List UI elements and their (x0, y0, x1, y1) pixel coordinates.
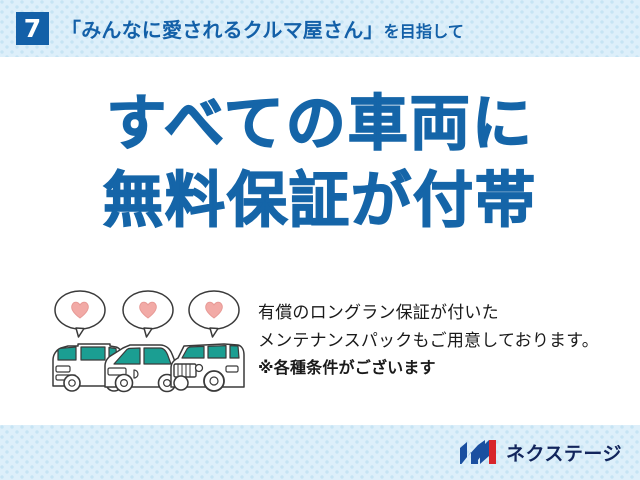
header-title: 「みんなに愛されるクルマ屋さん」 を目指して (61, 14, 464, 43)
heart-bubble-3 (189, 291, 239, 337)
step-number-badge: 7 (16, 12, 49, 45)
header-title-suffix: を目指して (384, 18, 465, 42)
nexstage-n-logo-icon (458, 440, 498, 466)
promo-row: 有償のロングラン保証が付いた メンテナンスパックもご用意しております。 ※各種条… (0, 288, 640, 398)
page-title: すべての車両に 無料保証が付帯 (0, 92, 640, 234)
heart-bubble-1 (55, 291, 105, 337)
headline-line-1: すべての車両に (0, 92, 640, 157)
description-line-1: 有償のロングラン保証が付いた (258, 300, 599, 328)
description-line-2: メンテナンスパックもご用意しております。 (258, 328, 599, 356)
brand-name: ネクステージ (506, 439, 622, 466)
header-title-main: 「みんなに愛されるクルマ屋さん」 (61, 14, 384, 43)
description-note: ※各種条件がございます (258, 355, 599, 381)
car-illustration-3 (171, 344, 244, 391)
headline-line-2: 無料保証が付帯 (0, 169, 640, 234)
description-text: 有償のロングラン保証が付いた メンテナンスパックもご用意しております。 ※各種条… (258, 300, 599, 381)
footer-logo: ネクステージ (0, 425, 640, 480)
advertisement-page: 7 「みんなに愛されるクルマ屋さん」 を目指して すべての車両に 無料保証が付帯 (0, 0, 640, 480)
header: 7 「みんなに愛されるクルマ屋さん」 を目指して (0, 0, 640, 57)
heart-bubble-2 (123, 291, 173, 337)
car-illustration-2 (105, 345, 176, 392)
cars-illustration (48, 288, 248, 393)
